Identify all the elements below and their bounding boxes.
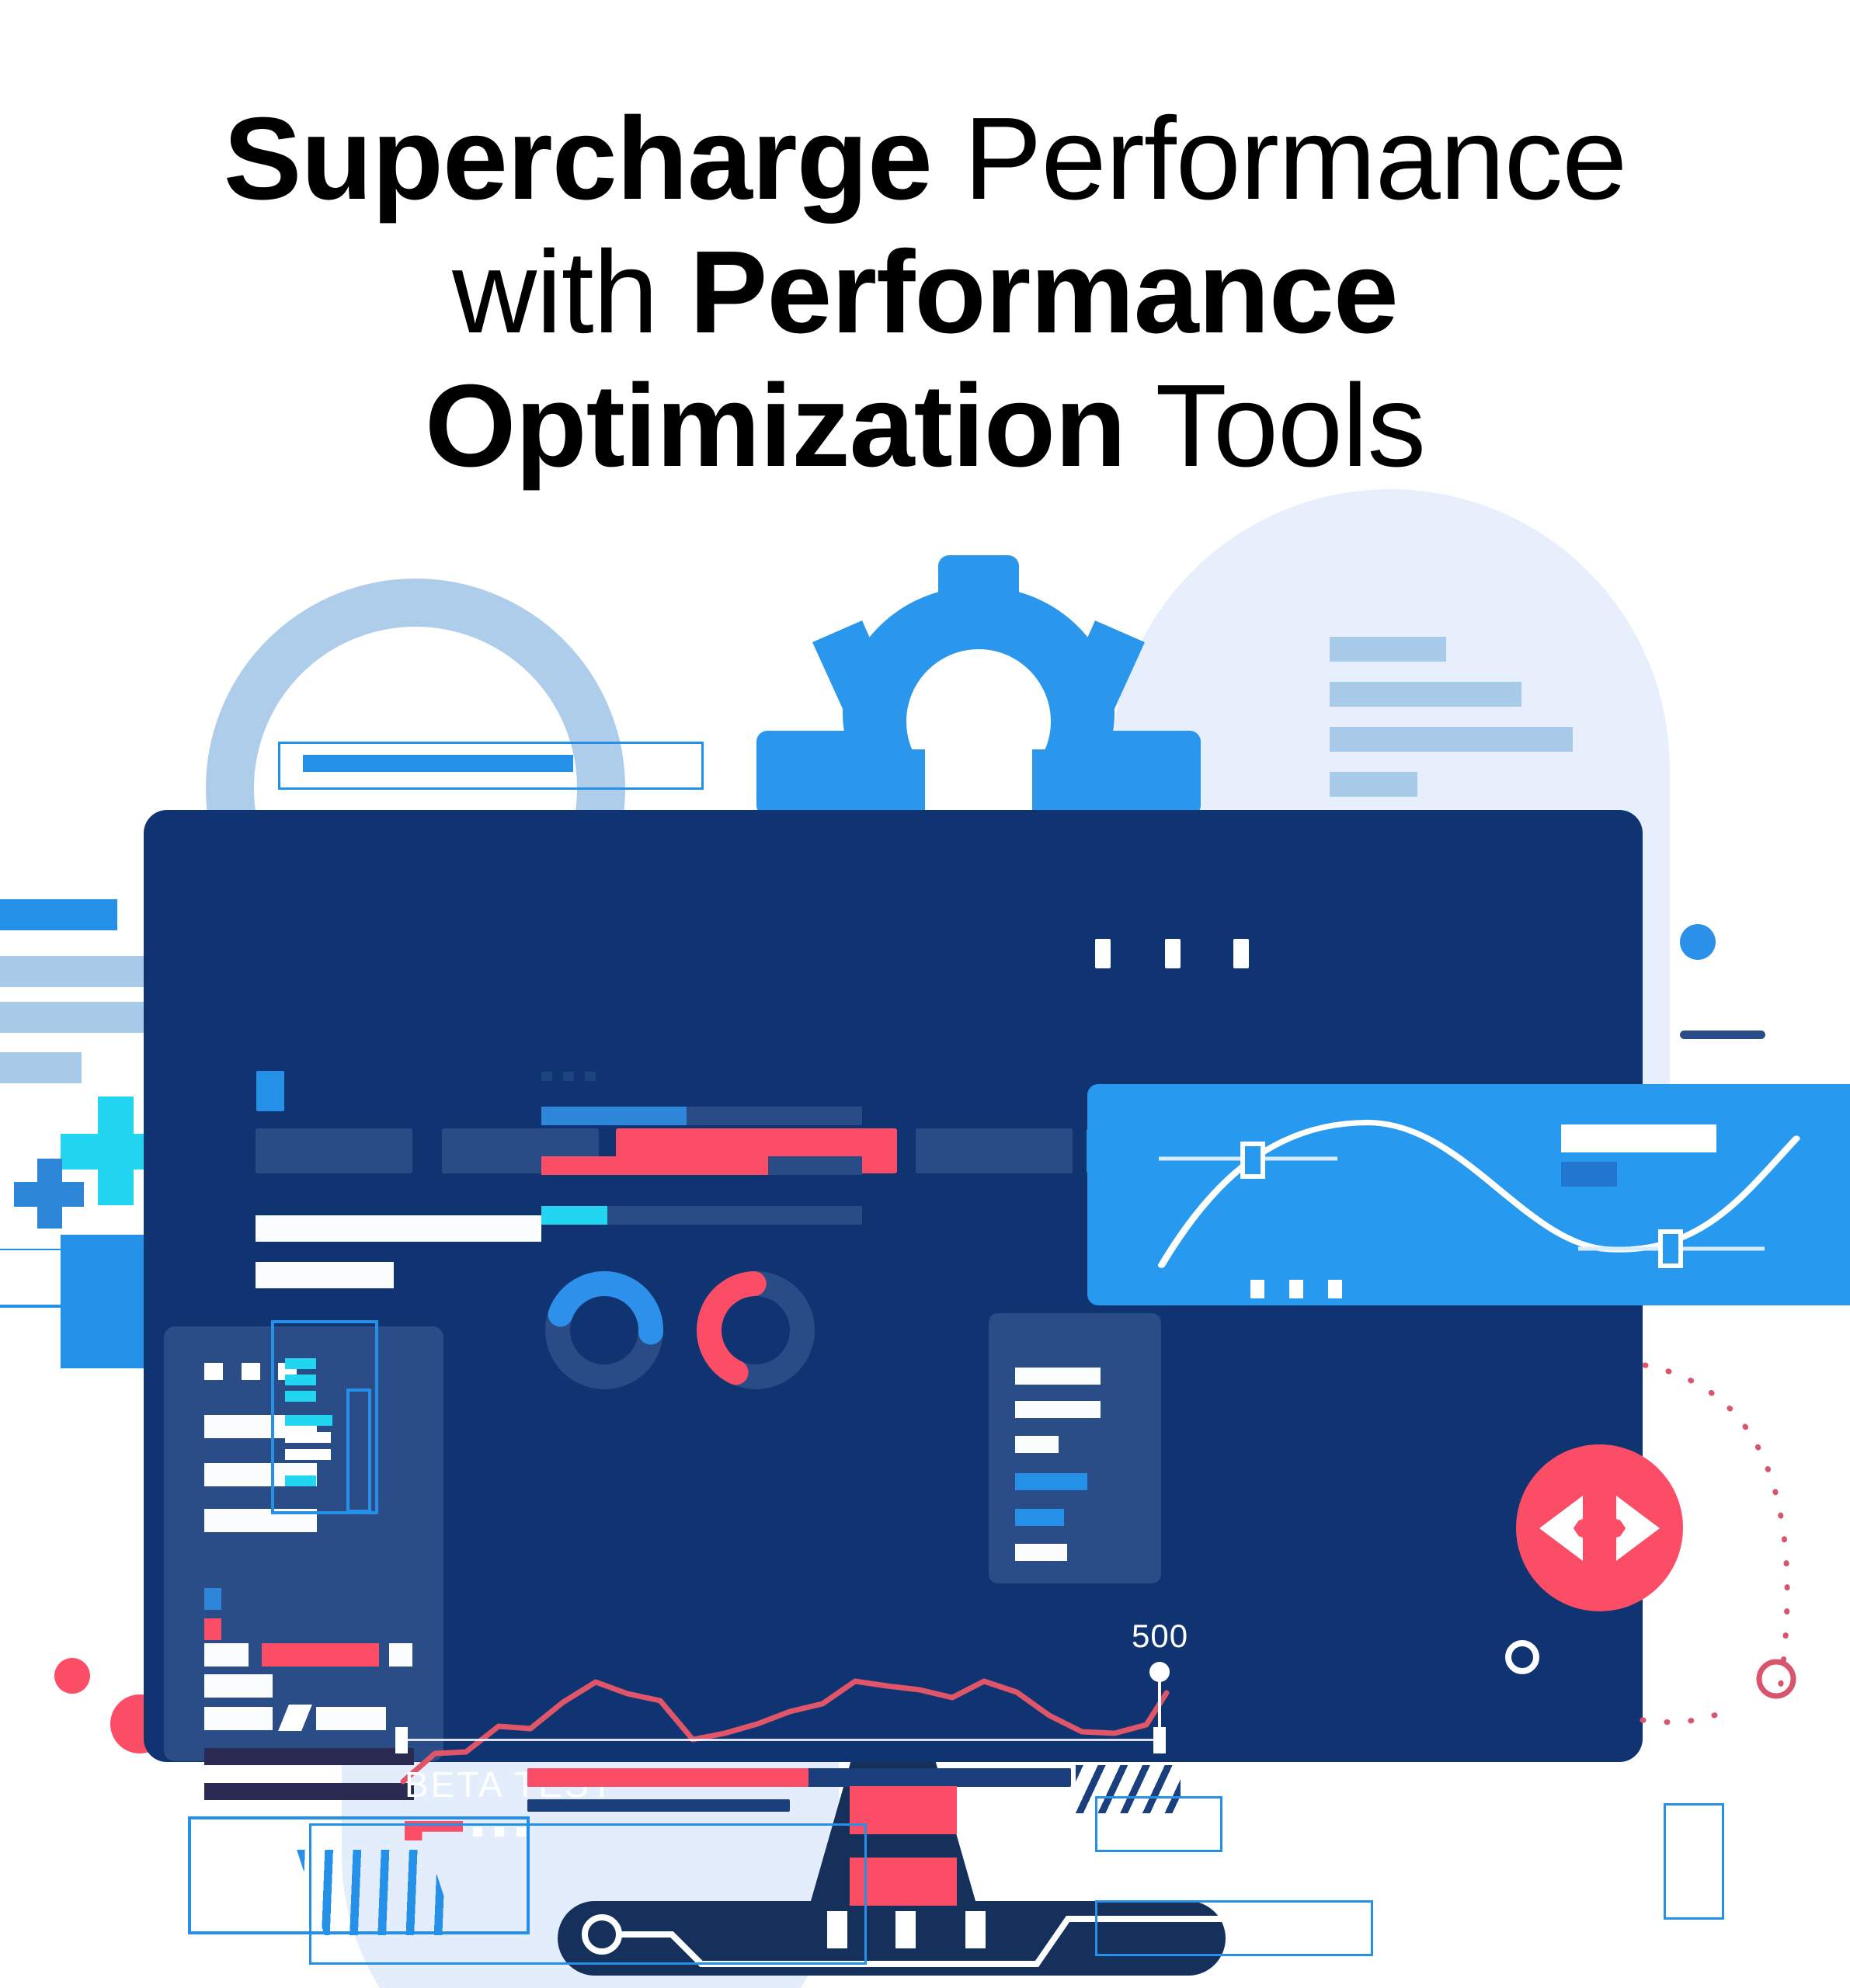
page-title: Supercharge Performance with Performance… [0, 92, 1850, 492]
detail-row-blue [1015, 1509, 1064, 1526]
headline-line-2: with Performance [0, 225, 1850, 359]
window-dot [1165, 939, 1181, 968]
card-row [204, 1707, 273, 1730]
dotted-arc [1623, 1336, 1850, 1747]
card-dot [242, 1363, 260, 1380]
menu-item[interactable] [285, 1415, 332, 1426]
chart-end-point [1149, 1662, 1170, 1682]
headline-word-optimization: Optimization [425, 360, 1125, 491]
decor-bar [1330, 682, 1521, 707]
menu-item[interactable] [285, 1375, 316, 1385]
detail-row [1015, 1368, 1101, 1385]
panel-subtitle-bar [1561, 1162, 1617, 1187]
metric-fill-2 [541, 1156, 768, 1175]
decor-outline-rect [1095, 1796, 1222, 1852]
optimization-curve-chart [1104, 1110, 1850, 1289]
decor-bar-blue [0, 899, 117, 930]
metric-fill-1 [541, 1107, 687, 1125]
menu-item[interactable] [285, 1475, 316, 1486]
panel-dot [1250, 1280, 1264, 1298]
card-tag-blue [204, 1588, 221, 1610]
menu-item[interactable] [285, 1358, 316, 1369]
menu-item[interactable] [285, 1432, 331, 1443]
decor-outline-rect [1095, 1900, 1373, 1956]
chart-max-label: 500 [1132, 1618, 1188, 1655]
card-dot [204, 1363, 223, 1380]
card-row-dark [204, 1748, 414, 1765]
decor-dot-red [54, 1658, 90, 1694]
decor-bar [0, 1052, 82, 1083]
decor-dot-blue [1680, 924, 1716, 960]
card-row [204, 1674, 273, 1698]
donut-chart-blue [545, 1271, 663, 1389]
detail-row [1015, 1401, 1101, 1418]
decor-bar [1330, 727, 1573, 752]
search-fill-bar [303, 755, 573, 772]
headline-word-performance-bold: Performance [690, 226, 1398, 357]
window-dot [1233, 939, 1249, 968]
menu-item[interactable] [285, 1449, 331, 1460]
metrics-dot [585, 1072, 596, 1081]
plus-icon-blue [14, 1159, 84, 1229]
panel-title-bar [1561, 1124, 1716, 1152]
decor-outline-rect [1664, 1803, 1724, 1920]
metrics-dot [563, 1072, 574, 1081]
menu-item[interactable] [285, 1391, 316, 1402]
card-row-red [262, 1643, 379, 1667]
card-row [316, 1707, 386, 1730]
decor-line-navy [1680, 1030, 1765, 1039]
decor-outline-large [309, 1823, 867, 1965]
chart-axis [400, 1739, 1161, 1741]
illustration-canvas: Supercharge Performance with Performance… [0, 0, 1850, 1988]
toolbar-button-3[interactable] [916, 1128, 1073, 1173]
beta-progress-fill [527, 1768, 809, 1787]
scroll-outline[interactable] [346, 1388, 371, 1513]
metric-fill-3 [541, 1206, 607, 1225]
headline-word-tools: Tools [1125, 360, 1425, 491]
toolbar-button-1[interactable] [256, 1128, 412, 1173]
panel-dot [1328, 1280, 1342, 1298]
circuit-node-ring [1505, 1640, 1539, 1674]
panel-dot [1289, 1280, 1303, 1298]
decor-line [123, 1300, 126, 1312]
chart-axis-start-cap [395, 1727, 408, 1753]
card-row [204, 1643, 249, 1667]
headline-line-1: Supercharge Performance [0, 92, 1850, 225]
card-tag-red [204, 1618, 221, 1640]
metrics-dot [541, 1072, 552, 1081]
toolbar-badge[interactable] [256, 1071, 284, 1111]
detail-row [1015, 1544, 1067, 1561]
decor-line [0, 1305, 126, 1308]
decor-bar [1330, 637, 1446, 662]
window-dot [1095, 939, 1111, 968]
detail-row [1015, 1436, 1059, 1453]
subtitle-bar [256, 1262, 394, 1288]
beta-progress-track-2 [527, 1799, 790, 1812]
headline-word-with: with [452, 226, 689, 357]
card-row-dark [204, 1783, 414, 1800]
decor-line [0, 1249, 62, 1250]
title-bar [256, 1215, 541, 1242]
detail-row-blue [1015, 1473, 1087, 1490]
headline-word-performance: Performance [932, 92, 1626, 224]
donut-chart-red [697, 1271, 815, 1389]
headline-line-3: Optimization Tools [0, 359, 1850, 492]
decor-bar [1330, 772, 1417, 797]
headline-word-supercharge: Supercharge [224, 92, 932, 224]
